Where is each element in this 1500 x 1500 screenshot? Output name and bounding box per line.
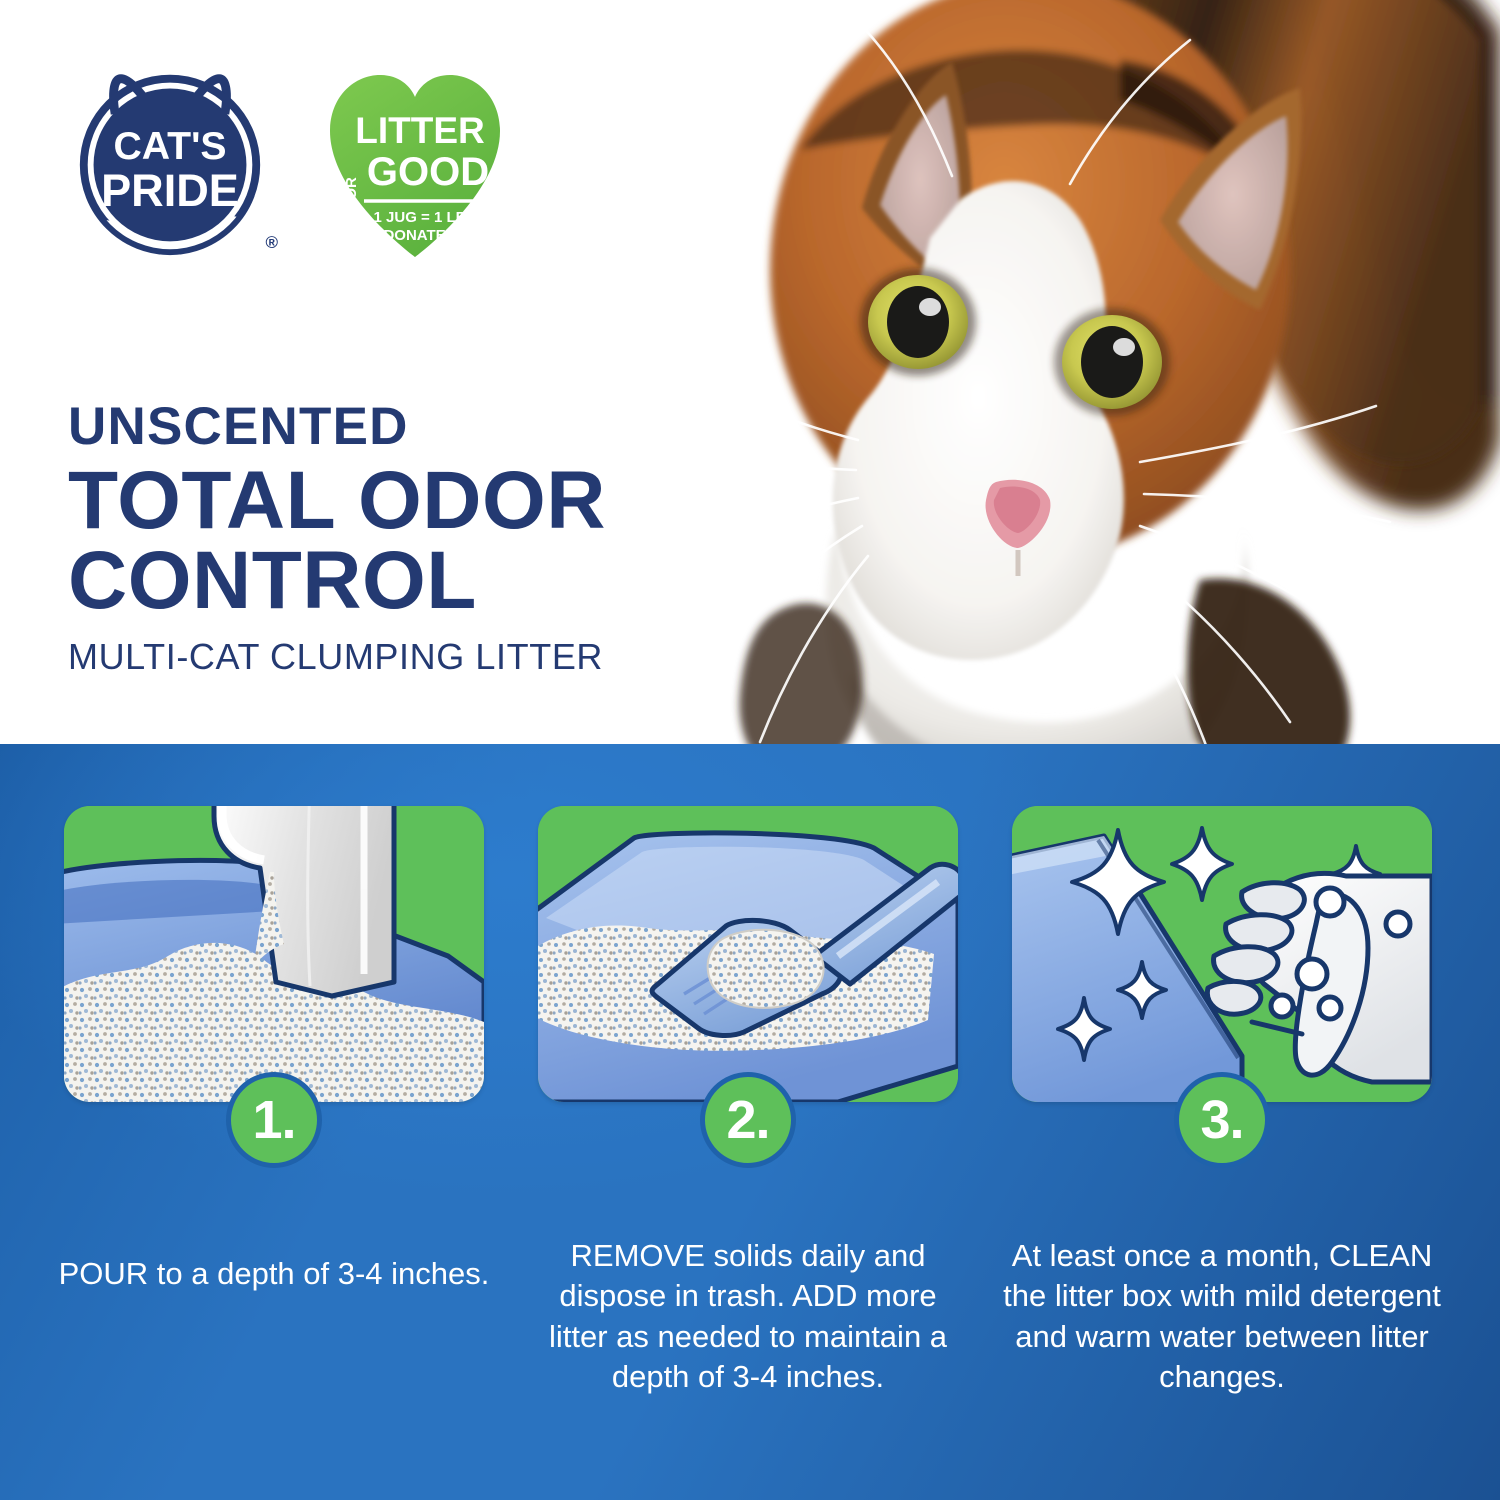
headline-subtitle: MULTI-CAT CLUMPING LITTER xyxy=(68,636,606,678)
cats-pride-line2: PRIDE xyxy=(101,165,239,216)
cats-pride-logo: CAT'S PRIDE ® xyxy=(72,55,272,267)
instruction-step-3: 3. At least once a month, CLEAN the litt… xyxy=(1012,806,1432,1102)
headline-line1: TOTAL ODOR xyxy=(68,461,606,541)
step-1-illustration xyxy=(64,806,484,1102)
instructions-section: 1. POUR to a depth of 3-4 inches. xyxy=(0,744,1500,1500)
lfg-word-good: GOOD xyxy=(367,150,489,194)
instruction-step-1: 1. POUR to a depth of 3-4 inches. xyxy=(64,806,484,1102)
step-3-badge: 3. xyxy=(1174,1072,1270,1168)
calico-cat-photo xyxy=(600,0,1500,744)
step-2-text: REMOVE solids daily and dispose in trash… xyxy=(528,1236,968,1397)
brand-logos: CAT'S PRIDE ® LITTER FOR GOOD xyxy=(72,55,510,267)
step-2-illustration xyxy=(538,806,958,1102)
litter-for-good-logo: LITTER FOR GOOD 1 JUG = 1 LB DONATED ® xyxy=(320,55,510,267)
registered-mark: ® xyxy=(496,221,506,237)
product-infographic: CAT'S PRIDE ® LITTER FOR GOOD xyxy=(0,0,1500,1500)
registered-mark: ® xyxy=(265,233,278,253)
step-1-badge: 1. xyxy=(226,1072,322,1168)
step-3-illustration xyxy=(1012,806,1432,1102)
lfg-word-for: FOR xyxy=(343,177,360,209)
step-1-text: POUR to a depth of 3-4 inches. xyxy=(54,1254,494,1294)
step-3-text: At least once a month, CLEAN the litter … xyxy=(1002,1236,1442,1397)
lfg-claim-line1: 1 JUG = 1 LB xyxy=(374,209,467,226)
hero-section: CAT'S PRIDE ® LITTER FOR GOOD xyxy=(0,0,1500,744)
lfg-word-litter: LITTER xyxy=(355,110,484,151)
headline-eyebrow: UNSCENTED xyxy=(68,400,606,453)
lfg-claim-line2: DONATED xyxy=(383,227,456,244)
headline-line2: CONTROL xyxy=(68,541,606,621)
step-2-badge: 2. xyxy=(700,1072,796,1168)
instruction-step-2: 2. REMOVE solids daily and dispose in tr… xyxy=(538,806,958,1102)
cats-pride-line1: CAT'S xyxy=(113,125,226,168)
page-title: UNSCENTED TOTAL ODOR CONTROL MULTI-CAT C… xyxy=(68,400,606,678)
